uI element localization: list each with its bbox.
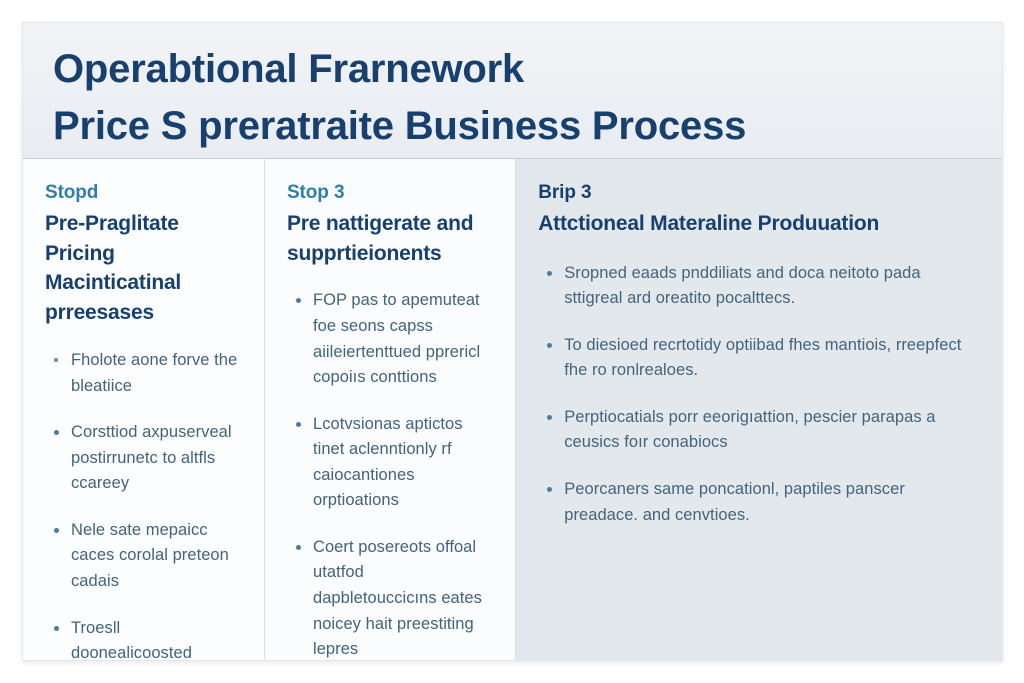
card-header: Operabtional Frarnework Price S preratra…: [23, 23, 1002, 159]
bullet-dot-icon: [296, 545, 301, 550]
column-step-2: Stop 3 Pre nattigerate and supprtieionen…: [265, 159, 516, 660]
list-item: Corsttiod axpuserveal postirrunetc to al…: [45, 420, 240, 497]
list-item-text: Peorcaners same poncationl, paptiles pan…: [564, 480, 905, 524]
column-2-eyebrow: Stop 3: [287, 181, 491, 205]
list-item-text: Perptiocatials porr eeorigıattion, pesci…: [564, 408, 935, 452]
list-item-text: Lcotvsionas aptictos tinet aclenntionly …: [313, 415, 463, 510]
list-item: Fholote aone forve the bleatiice: [45, 348, 240, 399]
list-item: Lcotvsionas aptictos tinet aclenntionly …: [287, 412, 491, 514]
list-item: Coert posereots offoal utatfod dapbletou…: [287, 535, 491, 660]
list-item-text: Nele sate mepaicc caces corolal preteon …: [71, 521, 229, 590]
list-item: Nele sate mepaicc caces corolal preteon …: [45, 518, 240, 595]
bullet-dot-icon: [547, 415, 552, 420]
list-item: Troesll doonealicoosted coaite arsihinto…: [45, 616, 240, 661]
bullet-dot-icon: [54, 358, 58, 362]
bullet-dot-icon: [296, 298, 301, 303]
list-item: To diesioed recrtotidy optiibad fhes man…: [538, 333, 978, 384]
columns-container: Stopd Pre-Praglitate Pricing Macinticati…: [23, 159, 1002, 660]
column-step-3: Brip 3 Attctioneal Materaline Produuatio…: [516, 159, 1002, 660]
list-item-text: Corsttiod axpuserveal postirrunetc to al…: [71, 423, 232, 492]
list-item: Perptiocatials porr eeorigıattion, pesci…: [538, 405, 978, 456]
column-3-bullet-list: Sropned eaads pnddiliats and doca neitot…: [538, 261, 978, 529]
column-1-eyebrow: Stopd: [45, 181, 240, 205]
column-1-bullet-list: Fholote aone forve the bleatiice Corstti…: [45, 348, 240, 660]
list-item-text: Coert posereots offoal utatfod dapbletou…: [313, 538, 482, 658]
bullet-dot-icon: [296, 422, 301, 427]
framework-card: Operabtional Frarnework Price S preratra…: [22, 22, 1003, 661]
bullet-dot-icon: [547, 487, 552, 492]
list-item: FOP pas to apemuteat foe seons capss aii…: [287, 288, 491, 390]
column-3-heading: Attctioneal Materaline Produuation: [538, 209, 978, 239]
bullet-dot-icon: [547, 271, 552, 276]
list-item-text: FOP pas to apemuteat foe seons capss aii…: [313, 291, 480, 386]
list-item-text: Sropned eaads pnddiliats and doca neitot…: [564, 264, 920, 308]
bullet-dot-icon: [54, 430, 59, 435]
list-item: Peorcaners same poncationl, paptiles pan…: [538, 477, 978, 528]
list-item: Sropned eaads pnddiliats and doca neitot…: [538, 261, 978, 312]
column-3-eyebrow: Brip 3: [538, 181, 978, 205]
page-title: Operabtional Frarnework Price S preratra…: [53, 41, 972, 155]
bullet-dot-icon: [547, 343, 552, 348]
column-2-bullet-list: FOP pas to apemuteat foe seons capss aii…: [287, 288, 491, 660]
page-title-line-1: Operabtional Frarnework: [53, 41, 972, 98]
page-title-line-2: Price S preratraite Business Process: [53, 98, 972, 155]
list-item-text: Fholote aone forve the bleatiice: [71, 351, 237, 395]
list-item-text: Troesll doonealicoosted coaite arsihinto…: [71, 619, 200, 661]
column-step-1: Stopd Pre-Praglitate Pricing Macinticati…: [23, 159, 265, 660]
bullet-dot-icon: [54, 626, 59, 631]
list-item-text: To diesioed recrtotidy optiibad fhes man…: [564, 336, 961, 380]
column-2-heading: Pre nattigerate and supprtieionents: [287, 209, 491, 269]
bullet-dot-icon: [54, 528, 59, 533]
column-1-heading: Pre-Praglitate Pricing Macinticatinal pr…: [45, 209, 240, 328]
